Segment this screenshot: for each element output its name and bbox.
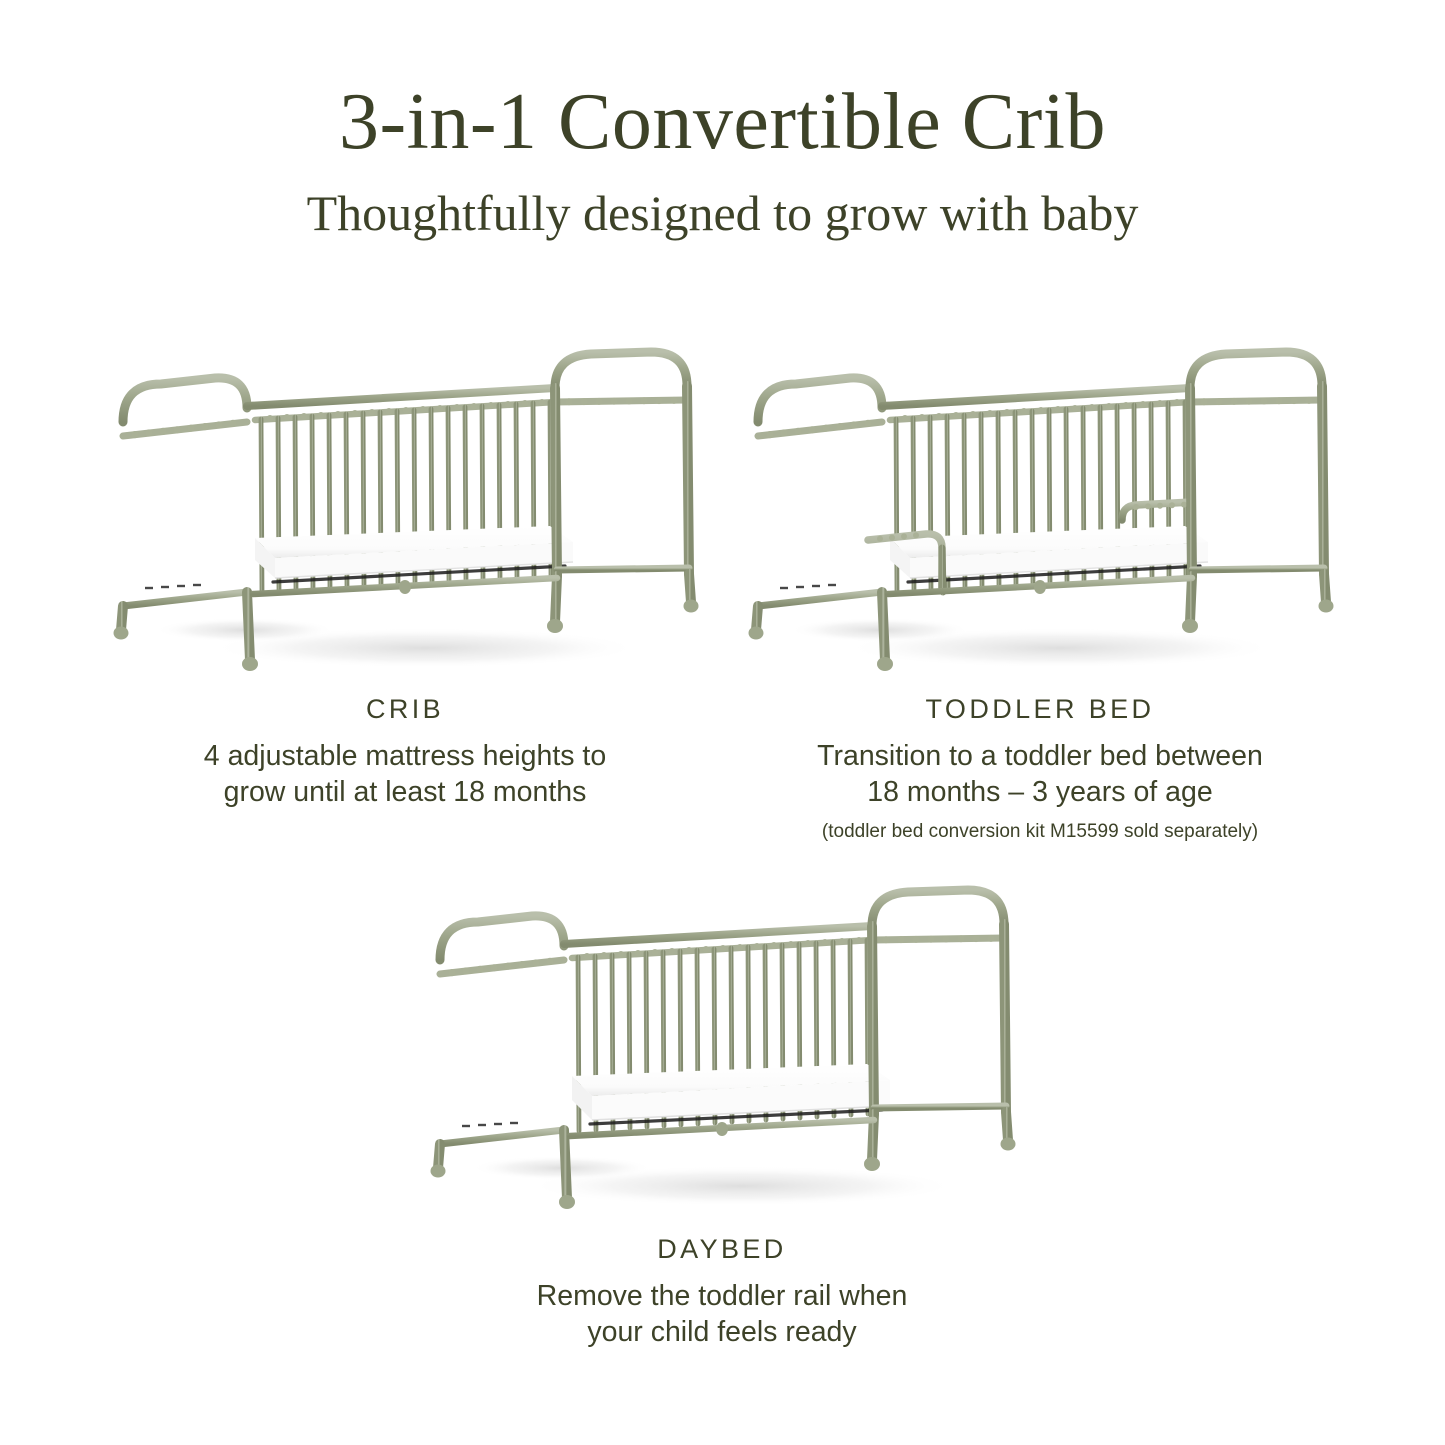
header: 3-in-1 Convertible Crib Thoughtfully des… (0, 0, 1445, 238)
caption-title: DAYBED (412, 1234, 1032, 1265)
crib-illustration (95, 330, 715, 680)
caption-line-2: grow until at least 18 months (95, 774, 715, 810)
caption-title: CRIB (95, 694, 715, 725)
panel-crib: CRIB 4 adjustable mattress heights to gr… (95, 330, 715, 811)
caption-line-1: Transition to a toddler bed between (730, 738, 1350, 774)
caption-line-1: Remove the toddler rail when (412, 1278, 1032, 1314)
daybed-illustration (412, 868, 1032, 1218)
caption-title: TODDLER BED (730, 694, 1350, 725)
caption-toddler-bed: TODDLER BED Transition to a toddler bed … (730, 694, 1350, 845)
page-subtitle: Thoughtfully designed to grow with baby (0, 162, 1445, 238)
page-title: 3-in-1 Convertible Crib (0, 0, 1445, 162)
panel-daybed: DAYBED Remove the toddler rail when your… (412, 868, 1032, 1351)
toddler-bed-illustration (730, 330, 1350, 680)
caption-line-1: 4 adjustable mattress heights to (95, 738, 715, 774)
caption-line-2: your child feels ready (412, 1314, 1032, 1350)
caption-fine-print: (toddler bed conversion kit M15599 sold … (730, 820, 1350, 845)
caption-daybed: DAYBED Remove the toddler rail when your… (412, 1234, 1032, 1351)
caption-line-2: 18 months – 3 years of age (730, 774, 1350, 810)
panel-toddler-bed: TODDLER BED Transition to a toddler bed … (730, 330, 1350, 845)
caption-crib: CRIB 4 adjustable mattress heights to gr… (95, 694, 715, 811)
infographic-page: 3-in-1 Convertible Crib Thoughtfully des… (0, 0, 1445, 1445)
